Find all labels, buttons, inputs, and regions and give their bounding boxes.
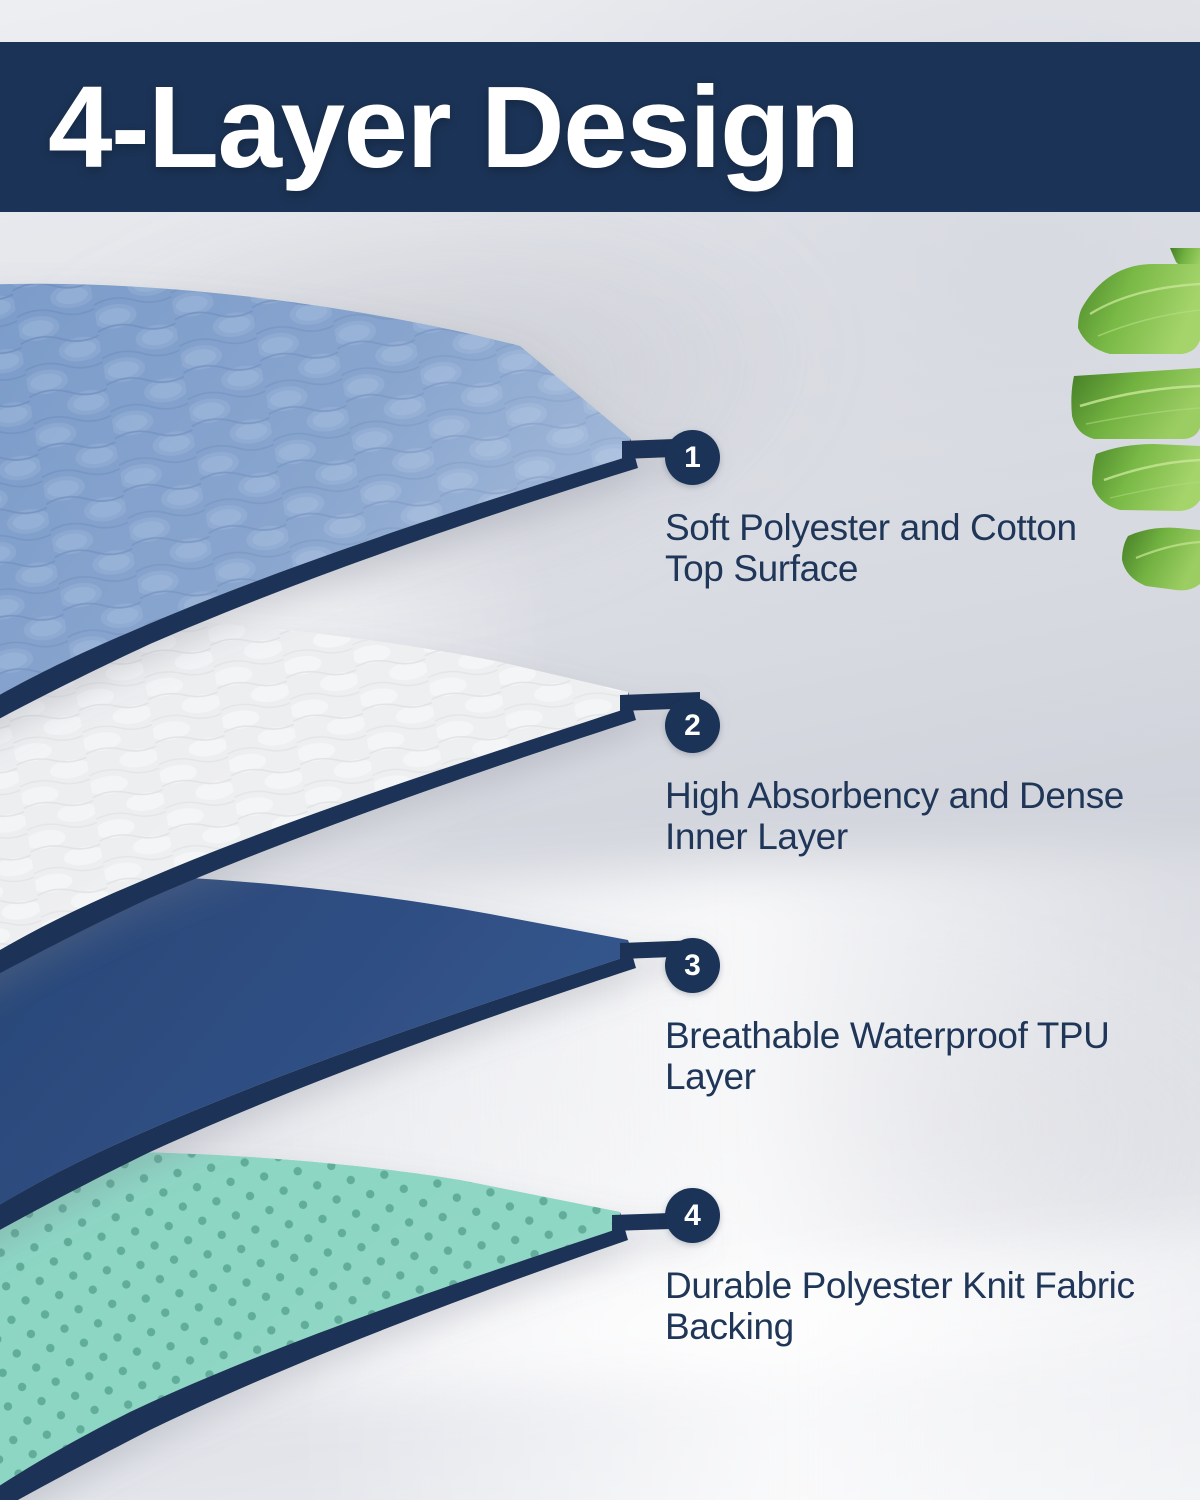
- callout-badge-1: 1: [665, 430, 720, 485]
- callout-badge-4: 4: [665, 1188, 720, 1243]
- callout-label-2: High Absorbency and Dense Inner Layer: [665, 775, 1135, 858]
- callout-item-3[interactable]: 3 Breathable Waterproof TPU Layer: [665, 938, 1165, 1098]
- callout-label-1: Soft Polyester and Cotton Top Surface: [665, 507, 1135, 590]
- callout-item-1[interactable]: 1 Soft Polyester and Cotton Top Surface: [665, 430, 1165, 590]
- callout-label-4: Durable Polyester Knit Fabric Backing: [665, 1265, 1135, 1348]
- layer-4-shape: [0, 1152, 700, 1500]
- callout-label-3: Breathable Waterproof TPU Layer: [665, 1015, 1135, 1098]
- page-title: 4-Layer Design: [0, 69, 859, 185]
- title-banner: 4-Layer Design: [0, 42, 1200, 212]
- callout-badge-3: 3: [665, 938, 720, 993]
- callout-badge-2: 2: [665, 698, 720, 753]
- callout-item-2[interactable]: 2 High Absorbency and Dense Inner Layer: [665, 698, 1165, 858]
- infographic-canvas: 4-Layer Design: [0, 0, 1200, 1500]
- callout-item-4[interactable]: 4 Durable Polyester Knit Fabric Backing: [665, 1188, 1165, 1348]
